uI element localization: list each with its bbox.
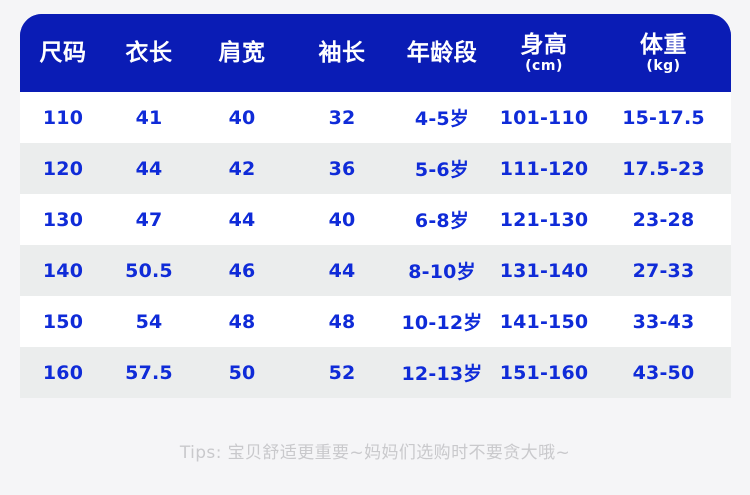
size-chart-table: 尺码 衣长 肩宽 袖长 (20, 14, 731, 398)
cell-weight: 27-33 (596, 245, 731, 296)
column-header-weight-label: 体重 (640, 33, 687, 57)
cell-size: 130 (20, 194, 106, 245)
cell-weight: 17.5-23 (596, 143, 731, 194)
cell-length: 41 (106, 92, 192, 143)
column-header-shoulder-label: 肩宽 (219, 41, 266, 65)
cell-shoulder: 42 (192, 143, 292, 194)
cell-sleeve: 44 (292, 245, 392, 296)
column-header-height-unit: (cm) (525, 59, 563, 74)
cell-length: 47 (106, 194, 192, 245)
tips-note: Tips: 宝贝舒适更重要~妈妈们选购时不要贪大哦~ (0, 438, 750, 463)
cell-height: 111-120 (492, 143, 596, 194)
cell-height: 121-130 (492, 194, 596, 245)
cell-weight: 15-17.5 (596, 92, 731, 143)
cell-age: 5-6岁 (392, 143, 492, 194)
cell-shoulder: 44 (192, 194, 292, 245)
cell-length: 54 (106, 296, 192, 347)
table-row: 120 44 42 36 5-6岁 111-120 17.5-23 (20, 143, 731, 194)
cell-sleeve: 36 (292, 143, 392, 194)
cell-height: 131-140 (492, 245, 596, 296)
cell-size: 110 (20, 92, 106, 143)
cell-weight: 23-28 (596, 194, 731, 245)
column-header-weight-unit: (kg) (646, 59, 680, 74)
size-chart-page: 尺码 衣长 肩宽 袖长 (0, 0, 750, 495)
table-row: 150 54 48 48 10-12岁 141-150 33-43 (20, 296, 731, 347)
column-header-age: 年龄段 (392, 14, 492, 92)
column-header-sleeve: 袖长 (292, 14, 392, 92)
cell-weight: 43-50 (596, 347, 731, 398)
cell-age: 12-13岁 (392, 347, 492, 398)
cell-weight: 33-43 (596, 296, 731, 347)
column-header-shoulder: 肩宽 (192, 14, 292, 92)
column-header-height: 身高 (cm) (492, 14, 596, 92)
column-header-size-label: 尺码 (40, 41, 87, 65)
column-header-size: 尺码 (20, 14, 106, 92)
column-header-weight: 体重 (kg) (596, 14, 731, 92)
cell-size: 140 (20, 245, 106, 296)
cell-shoulder: 46 (192, 245, 292, 296)
tips-label: Tips: (180, 443, 222, 463)
cell-sleeve: 40 (292, 194, 392, 245)
cell-height: 151-160 (492, 347, 596, 398)
column-header-length-label: 衣长 (126, 41, 173, 65)
cell-length: 44 (106, 143, 192, 194)
table-body: 110 41 40 32 4-5岁 101-110 15-17.5 120 44… (20, 92, 731, 398)
cell-size: 160 (20, 347, 106, 398)
cell-age: 4-5岁 (392, 92, 492, 143)
cell-size: 150 (20, 296, 106, 347)
table-row: 130 47 44 40 6-8岁 121-130 23-28 (20, 194, 731, 245)
table-row: 140 50.5 46 44 8-10岁 131-140 27-33 (20, 245, 731, 296)
column-header-height-label: 身高 (521, 33, 568, 57)
cell-sleeve: 32 (292, 92, 392, 143)
cell-age: 8-10岁 (392, 245, 492, 296)
cell-size: 120 (20, 143, 106, 194)
column-header-length: 衣长 (106, 14, 192, 92)
column-header-age-label: 年龄段 (407, 41, 478, 65)
tips-text: 宝贝舒适更重要~妈妈们选购时不要贪大哦~ (222, 443, 570, 463)
cell-height: 101-110 (492, 92, 596, 143)
cell-sleeve: 48 (292, 296, 392, 347)
cell-age: 10-12岁 (392, 296, 492, 347)
table-header-row: 尺码 衣长 肩宽 袖长 (20, 14, 731, 92)
cell-length: 50.5 (106, 245, 192, 296)
cell-shoulder: 48 (192, 296, 292, 347)
column-header-sleeve-label: 袖长 (319, 41, 366, 65)
cell-shoulder: 50 (192, 347, 292, 398)
table-row: 110 41 40 32 4-5岁 101-110 15-17.5 (20, 92, 731, 143)
cell-sleeve: 52 (292, 347, 392, 398)
cell-length: 57.5 (106, 347, 192, 398)
table-row: 160 57.5 50 52 12-13岁 151-160 43-50 (20, 347, 731, 398)
table-header: 尺码 衣长 肩宽 袖长 (20, 14, 731, 92)
cell-age: 6-8岁 (392, 194, 492, 245)
cell-shoulder: 40 (192, 92, 292, 143)
cell-height: 141-150 (492, 296, 596, 347)
